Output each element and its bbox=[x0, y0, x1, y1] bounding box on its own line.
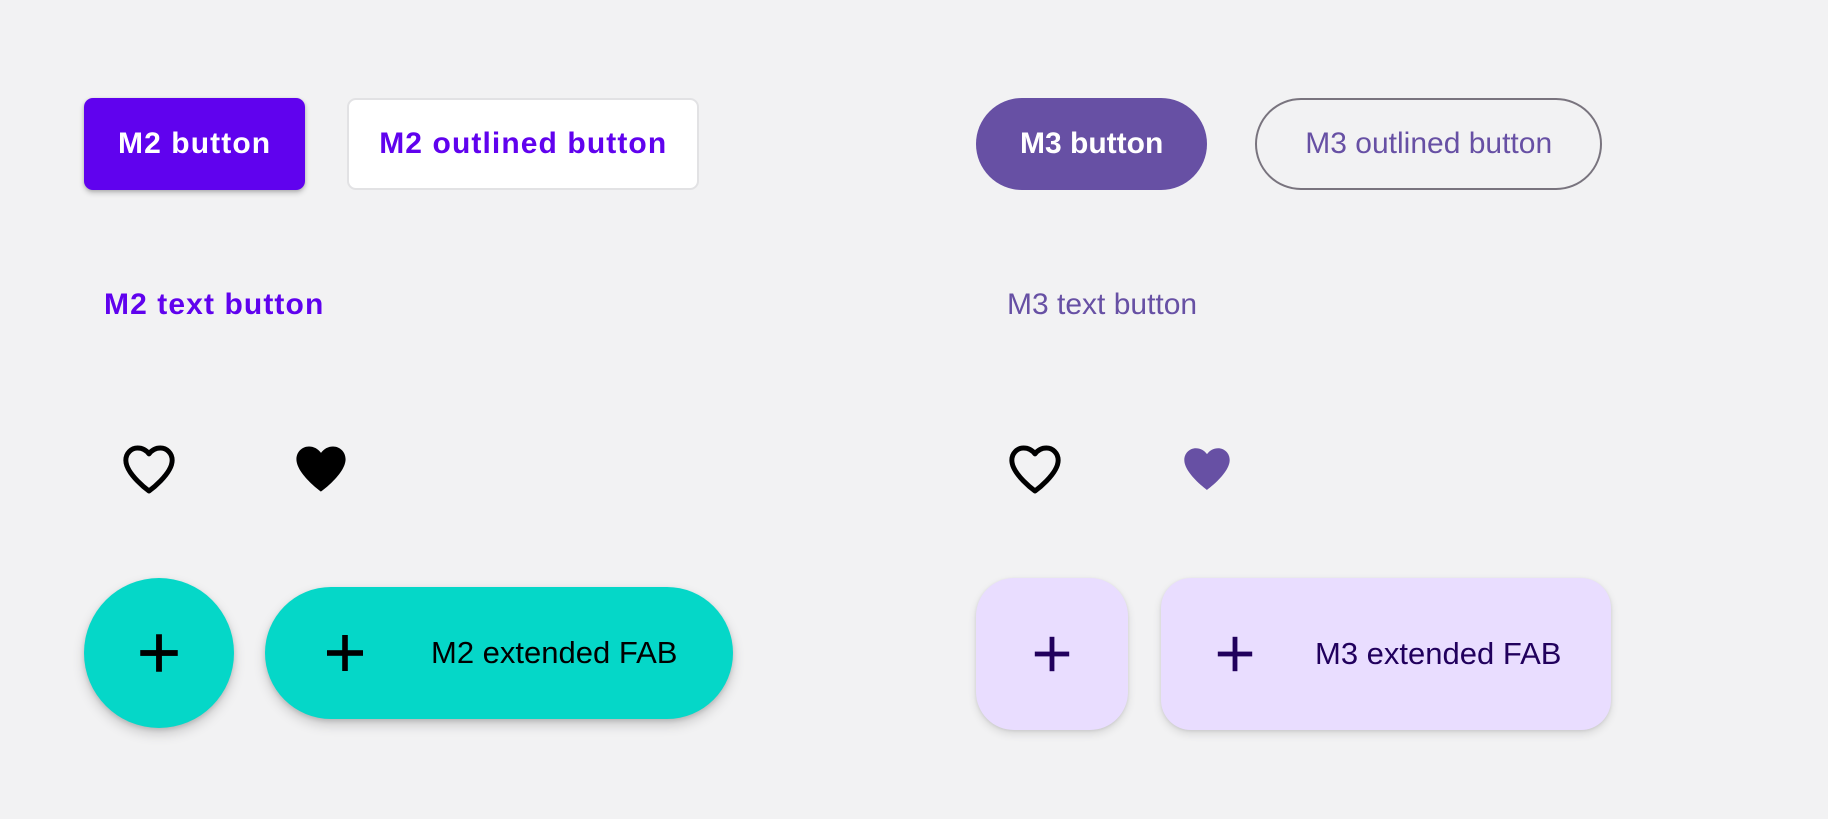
plus-icon bbox=[321, 629, 369, 677]
m2-extended-fab-label: M2 extended FAB bbox=[431, 635, 677, 671]
plus-icon bbox=[1028, 630, 1076, 678]
heart-outline-icon bbox=[1006, 443, 1064, 495]
heart-outline-icon bbox=[120, 443, 178, 495]
m3-heart-outline-button[interactable] bbox=[1006, 440, 1064, 498]
m2-extended-fab-button[interactable]: M2 extended FAB bbox=[265, 587, 733, 719]
m3-extended-fab-button[interactable]: M3 extended FAB bbox=[1161, 578, 1611, 730]
m2-heart-filled-button[interactable] bbox=[292, 440, 350, 498]
m2-outlined-button[interactable]: M2 outlined button bbox=[347, 98, 699, 190]
m3-text-button[interactable]: M3 text button bbox=[1007, 288, 1197, 322]
m2-column: M2 button M2 outlined button M2 text but… bbox=[0, 0, 914, 819]
m2-buttons-row: M2 button M2 outlined button bbox=[84, 98, 699, 190]
m3-outlined-button[interactable]: M3 outlined button bbox=[1255, 98, 1602, 190]
m2-fabs-row: M2 extended FAB bbox=[84, 578, 733, 728]
m3-icons-row bbox=[1006, 440, 1236, 498]
plus-icon bbox=[1211, 630, 1259, 678]
m3-heart-filled-button[interactable] bbox=[1178, 440, 1236, 498]
m2-icons-row bbox=[120, 440, 350, 498]
m3-filled-button[interactable]: M3 button bbox=[976, 98, 1207, 190]
m2-text-button-row: M2 text button bbox=[104, 288, 324, 322]
heart-filled-icon bbox=[292, 443, 350, 495]
m2-text-button[interactable]: M2 text button bbox=[104, 288, 324, 322]
m3-fab-button[interactable] bbox=[976, 578, 1128, 730]
plus-icon bbox=[134, 628, 184, 678]
m3-text-button-row: M3 text button bbox=[1007, 288, 1197, 322]
m3-column: M3 button M3 outlined button M3 text but… bbox=[914, 0, 1828, 819]
m2-fab-button[interactable] bbox=[84, 578, 234, 728]
m3-extended-fab-label: M3 extended FAB bbox=[1315, 636, 1561, 672]
m2-filled-button[interactable]: M2 button bbox=[84, 98, 305, 190]
m3-buttons-row: M3 button M3 outlined button bbox=[976, 98, 1602, 190]
heart-filled-icon bbox=[1180, 445, 1234, 493]
m3-fabs-row: M3 extended FAB bbox=[976, 578, 1611, 730]
comparison-canvas: M2 button M2 outlined button M2 text but… bbox=[0, 0, 1828, 819]
m2-heart-outline-button[interactable] bbox=[120, 440, 178, 498]
